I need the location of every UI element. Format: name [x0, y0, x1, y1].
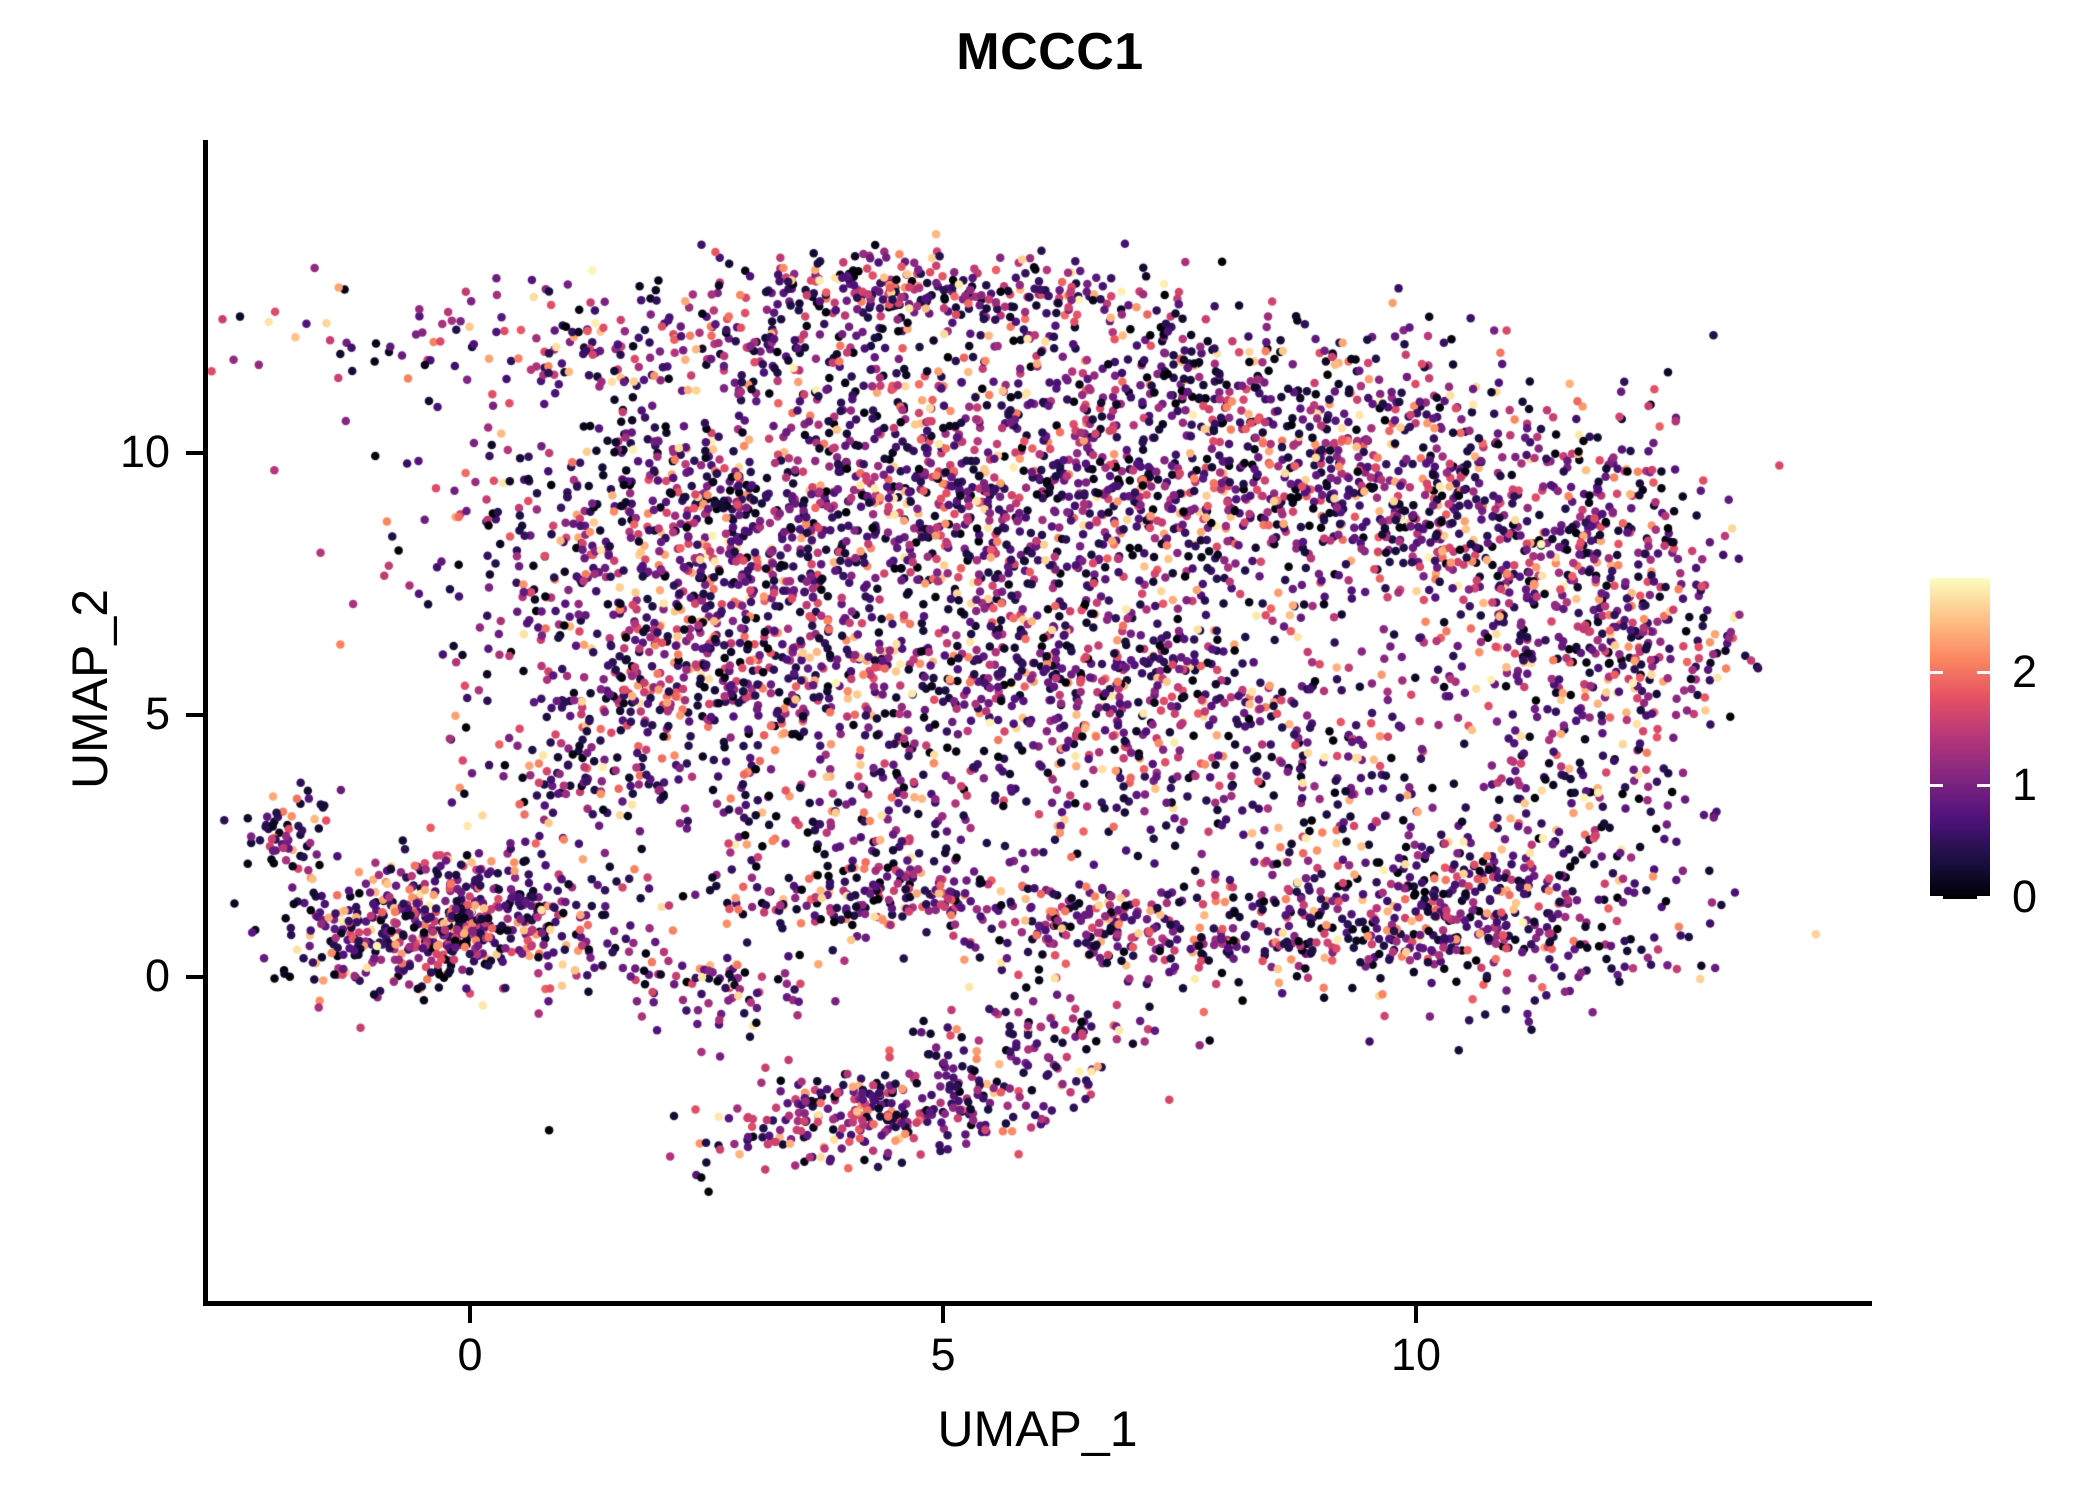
colorbar-label-2: 2 [2012, 649, 2037, 694]
y-tick-mark-5 [186, 713, 203, 717]
colorbar-tick-1-right [1977, 784, 1990, 787]
y-tick-mark-10 [186, 451, 203, 455]
x-tick-label-10: 10 [1341, 1332, 1491, 1377]
x-tick-mark-5 [941, 1306, 945, 1323]
colorbar-tick-2-right [1977, 671, 1990, 674]
y-tick-mark-0 [186, 975, 203, 979]
colorbar-label-1: 1 [2012, 762, 2037, 807]
x-axis-line [203, 1301, 1872, 1306]
x-axis-title: UMAP_1 [203, 1400, 1872, 1458]
colorbar-tick-0-left [1930, 896, 1943, 899]
y-axis-title: UMAP_2 [61, 339, 119, 1039]
x-tick-label-5: 5 [868, 1332, 1018, 1377]
colorbar-legend: 2 1 0 [1930, 578, 2100, 903]
colorbar-tick-0-right [1977, 896, 1990, 899]
colorbar-tick-2-left [1930, 671, 1943, 674]
colorbar-gradient [1930, 578, 1990, 899]
x-tick-mark-0 [468, 1306, 472, 1323]
colorbar-label-0: 0 [2012, 874, 2037, 919]
umap-feature-plot: MCCC1 10 5 0 0 5 10 UMAP_1 UMAP_2 2 1 0 [0, 0, 2100, 1500]
page-title: MCCC1 [0, 22, 2100, 82]
y-axis-line [203, 140, 208, 1306]
scatter-points-layer [205, 142, 1872, 1303]
x-tick-mark-10 [1414, 1306, 1418, 1323]
colorbar-tick-1-left [1930, 784, 1943, 787]
x-tick-label-0: 0 [395, 1332, 545, 1377]
plot-panel [205, 142, 1872, 1303]
